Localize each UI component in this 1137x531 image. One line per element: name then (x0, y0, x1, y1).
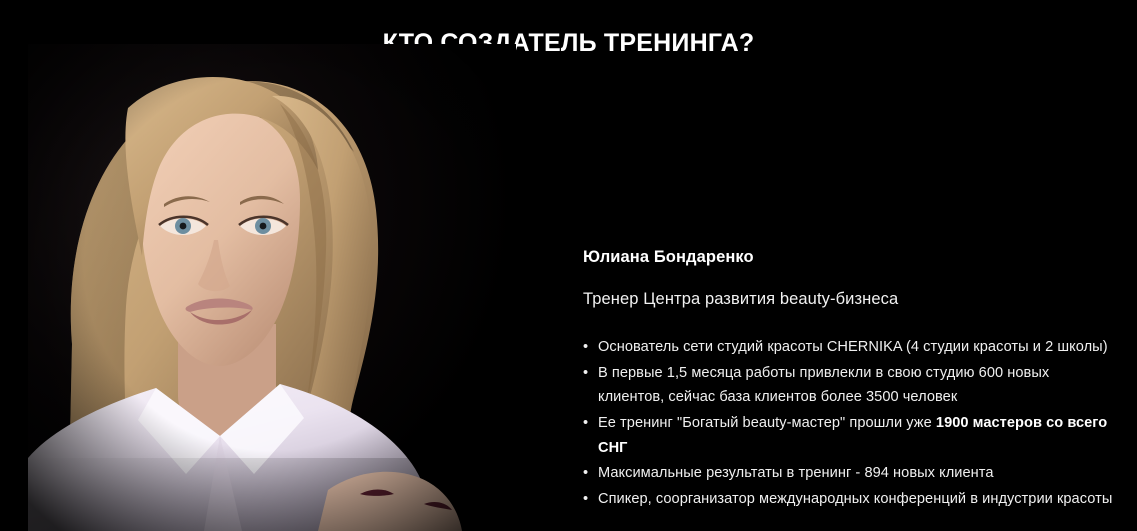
achievement-text: Ее тренинг "Богатый beauty-мастер" прошл… (598, 415, 936, 431)
achievement-item: •Спикер, соорганизатор международных кон… (583, 487, 1117, 512)
achievements-list: •Основатель сети студий красоты CHERNIKA… (583, 335, 1117, 511)
portrait-illustration (28, 44, 516, 531)
trainer-portrait-photo (28, 44, 516, 531)
achievement-item: •В первые 1,5 месяца работы привлекли в … (583, 361, 1117, 410)
achievement-text: Основатель сети студий красоты CHERNIKA … (598, 339, 1108, 355)
bullet-icon: • (583, 335, 588, 360)
bio-block: Юлиана Бондаренко Тренер Центра развития… (583, 248, 1117, 512)
achievement-text: Спикер, соорганизатор международных конф… (598, 491, 1112, 507)
achievement-item: •Ее тренинг "Богатый beauty-мастер" прош… (583, 411, 1117, 460)
bullet-icon: • (583, 487, 588, 512)
achievement-item: •Максимальные результаты в тренинг - 894… (583, 461, 1117, 486)
bullet-icon: • (583, 411, 588, 436)
achievement-text: В первые 1,5 месяца работы привлекли в с… (598, 365, 1049, 406)
trainer-role: Тренер Центра развития beauty-бизнеса (583, 290, 1117, 308)
achievement-text: Максимальные результаты в тренинг - 894 … (598, 465, 994, 481)
achievement-item: •Основатель сети студий красоты CHERNIKA… (583, 335, 1117, 360)
bullet-icon: • (583, 461, 588, 486)
bullet-icon: • (583, 361, 588, 386)
trainer-name: Юлиана Бондаренко (583, 248, 1117, 266)
slide-root: КТО СОЗДАТЕЛЬ ТРЕНИНГА? (0, 0, 1137, 531)
